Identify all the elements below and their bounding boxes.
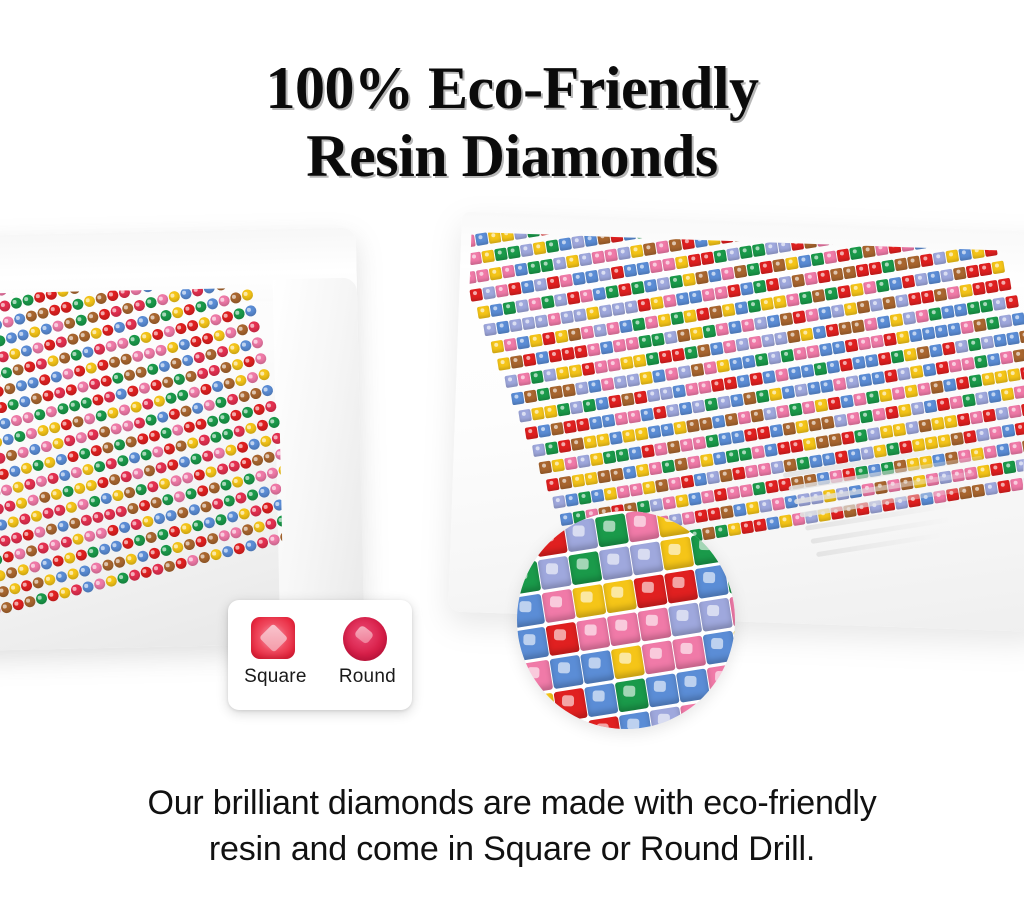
drill [100, 492, 113, 505]
drill [206, 415, 219, 428]
drill [1001, 387, 1015, 401]
drill [80, 514, 93, 527]
drill [690, 327, 704, 341]
drill [600, 341, 614, 355]
drill [83, 530, 96, 543]
drill [25, 309, 38, 322]
drill [573, 308, 587, 322]
drill [740, 520, 754, 534]
drill [736, 374, 750, 388]
drill [616, 485, 630, 499]
drill [216, 462, 229, 475]
drill [996, 443, 1010, 457]
drill [578, 491, 592, 505]
drill [582, 399, 596, 413]
drill [549, 385, 563, 399]
drill [794, 383, 808, 397]
drill [538, 461, 552, 475]
drill [13, 312, 26, 325]
drill [563, 420, 577, 434]
drill [682, 273, 696, 287]
drill [766, 278, 780, 292]
drill [774, 332, 788, 346]
drill [571, 474, 585, 488]
drill [251, 454, 264, 467]
drill [144, 413, 157, 426]
drill [806, 345, 820, 359]
drill [116, 337, 129, 350]
drill [93, 342, 106, 355]
drill [819, 343, 833, 357]
drill [94, 292, 107, 305]
drill [474, 232, 488, 246]
drill [103, 390, 116, 403]
drill [920, 253, 934, 267]
drill [570, 437, 584, 451]
drill [784, 257, 798, 271]
drill [722, 340, 736, 354]
drill [168, 525, 181, 538]
drill [686, 419, 700, 433]
drill [966, 301, 980, 315]
drill [231, 358, 244, 371]
macro-drill [533, 523, 567, 557]
macro-drill [584, 683, 618, 717]
drill [48, 421, 61, 434]
macro-drill [649, 706, 683, 729]
drill [851, 319, 865, 333]
drill [697, 344, 711, 358]
drill [241, 523, 254, 536]
drill [1005, 295, 1019, 309]
drill [708, 305, 722, 319]
drill [5, 566, 18, 579]
drill [601, 377, 615, 391]
drill [223, 377, 236, 390]
drill [586, 306, 600, 320]
drill [15, 379, 28, 392]
drill [568, 364, 582, 378]
drill [903, 348, 917, 362]
macro-drill [645, 673, 679, 707]
drill [744, 428, 758, 442]
drill [198, 551, 211, 564]
drill [999, 314, 1013, 328]
drill [211, 497, 224, 510]
drill [640, 408, 654, 422]
drill [622, 466, 636, 480]
drill [258, 485, 271, 498]
drill [231, 475, 244, 488]
drill [159, 309, 172, 322]
drill [25, 427, 38, 440]
drill [654, 442, 668, 456]
drill [151, 563, 164, 576]
macro-drill [672, 635, 706, 669]
drill [840, 395, 854, 409]
drill [636, 262, 650, 276]
drill [711, 415, 725, 429]
drill [889, 313, 903, 327]
macro-drill [564, 518, 598, 552]
drill [20, 462, 33, 475]
drill [136, 315, 149, 328]
drill [896, 331, 910, 345]
drill [86, 545, 99, 558]
round-drill-icon[interactable] [343, 617, 389, 661]
drill [802, 437, 816, 451]
drill [983, 445, 997, 459]
drill [726, 247, 740, 261]
drill [125, 553, 138, 566]
drill [797, 254, 811, 268]
drill [989, 426, 1003, 440]
drill [585, 270, 599, 284]
drill [817, 270, 831, 284]
drill [555, 366, 569, 380]
drill [756, 389, 770, 403]
drill [651, 333, 665, 347]
macro-drill [553, 688, 587, 722]
drill [655, 240, 669, 254]
drill [111, 489, 124, 502]
drill [239, 456, 252, 469]
drill [101, 558, 114, 571]
macro-drill [691, 532, 725, 566]
drill [128, 334, 141, 347]
drill [83, 412, 96, 425]
drill [23, 360, 36, 373]
drill [837, 285, 851, 299]
drill [8, 582, 21, 595]
legend-label-square: Square [244, 666, 306, 688]
drill [91, 511, 104, 524]
drill [116, 571, 129, 584]
drill [780, 312, 794, 326]
drill [692, 400, 706, 414]
drill [725, 449, 739, 463]
drill [739, 245, 753, 259]
drill [758, 463, 772, 477]
drill [95, 527, 108, 540]
drill [125, 435, 138, 448]
drill [810, 252, 824, 266]
drill [81, 345, 94, 358]
drill [546, 276, 560, 290]
drill [776, 405, 790, 419]
drill [494, 247, 508, 261]
macro-drill [633, 574, 667, 608]
drill [624, 264, 638, 278]
drill [751, 445, 765, 459]
drill [814, 399, 828, 413]
macro-drill [695, 565, 729, 599]
drill [928, 307, 942, 321]
macro-drill [711, 697, 735, 729]
drill [933, 251, 947, 265]
drill [704, 398, 718, 412]
drill [687, 455, 701, 469]
drill [731, 430, 745, 444]
drill [252, 403, 265, 416]
drill [719, 469, 733, 483]
drill [221, 428, 234, 441]
drill [71, 415, 84, 428]
drill [645, 352, 659, 366]
drill [234, 374, 247, 387]
drill [588, 379, 602, 393]
drill [93, 460, 106, 473]
drill [727, 284, 741, 298]
drill [554, 330, 568, 344]
drill [156, 528, 169, 541]
drill [591, 250, 605, 264]
drill [60, 301, 73, 314]
macro-drill [523, 693, 557, 727]
drill [166, 341, 179, 354]
macro-drill [707, 664, 735, 698]
drill [934, 288, 948, 302]
drill [858, 337, 872, 351]
drill [269, 482, 282, 495]
drill [834, 414, 848, 428]
drill [979, 299, 993, 313]
drill [148, 312, 161, 325]
drill [547, 312, 561, 326]
drill [178, 455, 191, 468]
drill [675, 494, 689, 508]
drill [564, 457, 578, 471]
drill [915, 309, 929, 323]
drill [106, 289, 119, 302]
drill [161, 376, 174, 389]
drill [55, 453, 68, 466]
drill [1015, 458, 1024, 472]
macro-drill [637, 607, 671, 641]
drill [929, 344, 943, 358]
drill [695, 271, 709, 285]
drill [825, 323, 839, 337]
drill [183, 303, 196, 316]
drill [6, 398, 19, 411]
drill [717, 396, 731, 410]
drill [857, 300, 871, 314]
drill [133, 416, 146, 429]
drill [850, 283, 864, 297]
drill [948, 359, 962, 373]
drill [662, 258, 676, 272]
drill [883, 333, 897, 347]
drill [859, 410, 873, 424]
drill [843, 266, 857, 280]
drill [131, 467, 144, 480]
drill-type-legend[interactable]: Square Round [228, 600, 412, 710]
drill [257, 368, 270, 381]
drill [191, 287, 204, 297]
drill [98, 308, 111, 321]
caption-line-2: resin and come in Square or Round Drill. [0, 826, 1024, 872]
drill [118, 521, 131, 534]
drill [943, 415, 957, 429]
drill [698, 380, 712, 394]
drill [752, 482, 766, 496]
drill [818, 306, 832, 320]
drill [764, 443, 778, 457]
drill [587, 343, 601, 357]
drill [985, 280, 999, 294]
drill [595, 397, 609, 411]
drill [525, 426, 539, 440]
drill [66, 332, 79, 345]
drill [194, 417, 207, 430]
drill [51, 319, 64, 332]
drill [153, 512, 166, 525]
drill [962, 393, 976, 407]
drill [698, 417, 712, 431]
drill [246, 488, 259, 501]
drill [799, 328, 813, 342]
drill [876, 315, 890, 329]
drill [90, 561, 103, 574]
drill [524, 390, 538, 404]
drill [723, 376, 737, 390]
drill [905, 421, 919, 435]
drill [865, 390, 879, 404]
drill [902, 311, 916, 325]
drill [236, 323, 249, 336]
drill [931, 417, 945, 431]
drill [189, 335, 202, 348]
drill [20, 579, 33, 592]
drill [956, 413, 970, 427]
drill [662, 496, 676, 510]
drill [80, 396, 93, 409]
drill [897, 367, 911, 381]
drill [882, 296, 896, 310]
drill [43, 456, 56, 469]
drill [110, 422, 123, 435]
drill [28, 325, 41, 338]
drill [144, 296, 157, 309]
drill [36, 424, 49, 437]
drill [839, 358, 853, 372]
drill [901, 275, 915, 289]
drill [988, 389, 1002, 403]
drill [30, 509, 43, 522]
drill [746, 501, 760, 515]
drill [203, 516, 216, 529]
drill [113, 556, 126, 569]
drill [173, 490, 186, 503]
drill [630, 281, 644, 295]
drill [218, 412, 231, 425]
drill [854, 429, 868, 443]
drill [576, 418, 590, 432]
drill [728, 320, 742, 334]
drill [604, 487, 618, 501]
drill [815, 435, 829, 449]
drill [168, 407, 181, 420]
drill [189, 452, 202, 465]
drill [546, 239, 560, 253]
drill [895, 294, 909, 308]
drill [223, 494, 236, 507]
drill [22, 528, 35, 541]
drill [171, 306, 184, 319]
drill [25, 544, 38, 557]
drill [233, 425, 246, 438]
drill [871, 371, 885, 385]
drill [693, 436, 707, 450]
drill [154, 344, 167, 357]
drill [658, 350, 672, 364]
drill [691, 363, 705, 377]
drill [885, 406, 899, 420]
drill [820, 379, 834, 393]
drill [191, 402, 204, 415]
drill [594, 360, 608, 374]
drill [201, 332, 214, 345]
drill [721, 303, 735, 317]
drill [251, 336, 264, 349]
drill [114, 387, 127, 400]
drill [184, 487, 197, 500]
drill [238, 390, 251, 403]
drill [143, 464, 156, 477]
drill [987, 353, 1001, 367]
drill [503, 338, 517, 352]
drill [557, 439, 571, 453]
drill [833, 377, 847, 391]
drill [990, 462, 1004, 476]
drill [23, 595, 36, 608]
square-drill-gem [251, 617, 295, 659]
drill [591, 489, 605, 503]
drill [100, 374, 113, 387]
drill [693, 473, 707, 487]
drill [775, 368, 789, 382]
round-drill-gem [343, 617, 387, 661]
drill [489, 303, 503, 317]
square-drill-icon[interactable] [251, 617, 297, 661]
drill [653, 406, 667, 420]
drill [537, 388, 551, 402]
drill [677, 329, 691, 343]
drill [541, 295, 555, 309]
drill [607, 358, 621, 372]
drill [70, 583, 83, 596]
drill [85, 361, 98, 374]
drill [720, 267, 734, 281]
drill [248, 438, 261, 451]
drill [261, 501, 274, 514]
drill [631, 317, 645, 331]
drill [795, 420, 809, 434]
drill [908, 292, 922, 306]
drill [86, 428, 99, 441]
drill [509, 319, 523, 333]
drill [715, 323, 729, 337]
drill [942, 378, 956, 392]
macro-drill [529, 511, 563, 524]
drill [993, 334, 1007, 348]
drill [685, 382, 699, 396]
drill [734, 301, 748, 315]
drill [793, 347, 807, 361]
macro-drill [664, 569, 698, 603]
drill [1006, 332, 1020, 346]
drill [3, 382, 16, 395]
